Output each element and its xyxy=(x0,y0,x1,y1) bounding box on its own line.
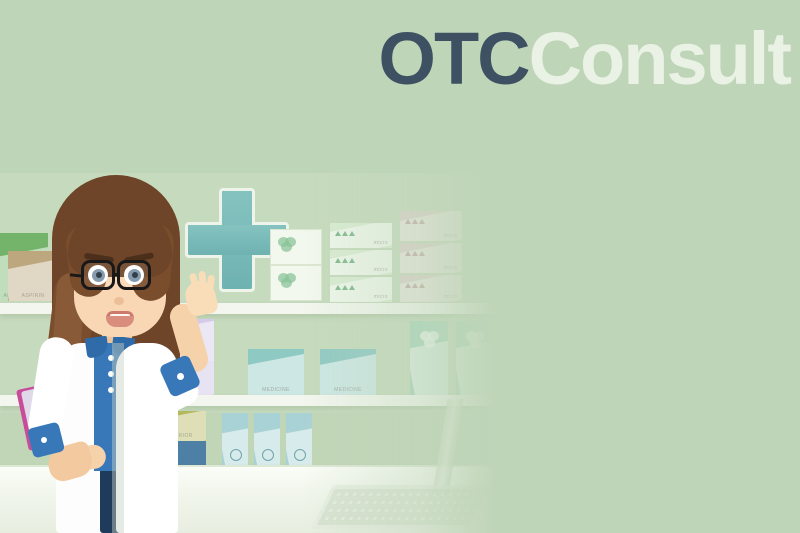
glasses-bridge xyxy=(114,273,120,276)
pill-icon xyxy=(420,331,444,343)
capsule-icon xyxy=(335,282,359,294)
lab-coat-shadow xyxy=(112,343,124,533)
product-box-mint-2 xyxy=(456,321,494,395)
circle-mark-icon xyxy=(262,449,274,461)
capsule-icon xyxy=(335,255,359,267)
product-label: micro xyxy=(334,240,388,245)
pill-icon xyxy=(466,331,490,343)
keyboard-keys xyxy=(317,489,487,525)
product-box-micro-2: micro xyxy=(330,250,392,275)
product-box-pink-stack-3: micro xyxy=(400,275,462,302)
product-box-micro-3: micro xyxy=(330,277,392,302)
brand-logo: OTCConsult xyxy=(270,16,790,102)
pill-icon xyxy=(276,271,300,283)
product-box-white-stack-1 xyxy=(270,229,322,265)
glasses-lens-right xyxy=(117,260,151,290)
product-box-micro-1: micro xyxy=(330,223,392,248)
product-label: micro xyxy=(334,267,388,272)
logo-text-primary: OTC xyxy=(378,22,528,96)
lower-lip xyxy=(106,316,134,327)
product-box-bottle-2 xyxy=(254,413,280,467)
logo-text-secondary: Consult xyxy=(529,22,790,96)
pharmacist-character xyxy=(8,113,238,533)
capsule-icon xyxy=(335,228,359,240)
promo-banner: OTCConsult AMOXICILIN ASPIRIN ASPIRIN xyxy=(0,0,800,533)
product-box-bottle-3 xyxy=(286,413,312,467)
finger xyxy=(198,271,206,289)
nose xyxy=(114,297,124,305)
keyboard xyxy=(311,485,492,529)
product-box-pink-stack-2: micro xyxy=(400,243,462,273)
capsule-icon xyxy=(405,280,429,292)
product-box-pink-stack-1: micro xyxy=(400,211,462,241)
product-box-mint-1 xyxy=(410,321,448,395)
product-label: micro xyxy=(404,233,458,238)
capsule-icon xyxy=(405,248,429,260)
product-label: MEDICINE xyxy=(324,387,372,392)
product-box-teal-2: MEDICINE xyxy=(320,349,376,395)
product-box-teal-1: MEDICINE xyxy=(248,349,304,395)
product-box-white-stack-2 xyxy=(270,265,322,301)
pill-icon xyxy=(276,235,300,247)
capsule-icon xyxy=(405,216,429,228)
right-cuff-button xyxy=(177,373,184,380)
left-cuff-button xyxy=(41,437,47,443)
product-label: MEDICINE xyxy=(252,387,300,392)
glasses-lens-left xyxy=(81,260,115,290)
product-label: micro xyxy=(334,294,388,299)
product-label: micro xyxy=(404,294,458,299)
product-label: micro xyxy=(404,265,458,270)
circle-mark-icon xyxy=(294,449,306,461)
